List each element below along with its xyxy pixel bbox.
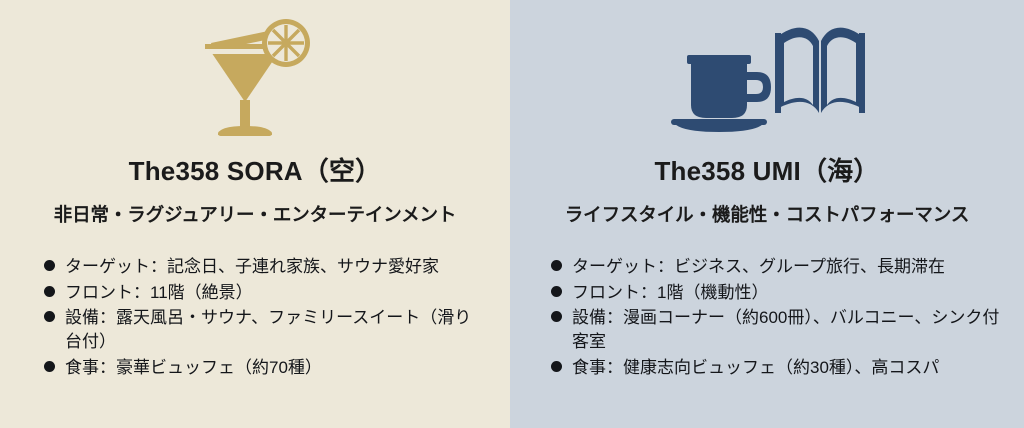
- list-item: ターゲット：ビジネス、グループ旅行、長期滞在: [551, 255, 1002, 279]
- bullet-dot-icon: [551, 260, 562, 271]
- list-item: 設備：露天風呂・サウナ、ファミリースイート（滑り台付）: [44, 306, 486, 355]
- panel-sora-subtitle: 非日常・ラグジュアリー・エンターテインメント: [0, 206, 510, 225]
- panel-umi-title: The358 UMI（海）: [510, 158, 1024, 184]
- panel-sora-title: The358 SORA（空）: [0, 158, 510, 184]
- panel-umi-subtitle: ライフスタイル・機能性・コストパフォーマンス: [510, 206, 1024, 225]
- list-item: フロント：11階（絶景）: [44, 281, 486, 305]
- panel-sora-feature-list: ターゲット：記念日、子連れ家族、サウナ愛好家 フロント：11階（絶景） 設備：露…: [0, 255, 510, 380]
- hotel-comparison-panels: The358 SORA（空） 非日常・ラグジュアリー・エンターテインメント ター…: [0, 0, 1024, 428]
- list-item-text: ターゲット：記念日、子連れ家族、サウナ愛好家: [65, 257, 439, 276]
- bullet-dot-icon: [44, 260, 55, 271]
- bullet-dot-icon: [551, 361, 562, 372]
- cocktail-glass-icon: [199, 16, 311, 138]
- list-item-text: 設備：露天風呂・サウナ、ファミリースイート（滑り台付）: [65, 308, 471, 351]
- list-item-text: フロント：11階（絶景）: [65, 283, 253, 302]
- panel-umi-feature-list: ターゲット：ビジネス、グループ旅行、長期滞在 フロント：1階（機動性） 設備：漫…: [510, 255, 1024, 380]
- list-item: 食事：豪華ビュッフェ（約70種）: [44, 356, 486, 380]
- list-item-text: 食事：豪華ビュッフェ（約70種）: [65, 358, 322, 377]
- panel-sora-icon-area: [0, 0, 510, 152]
- bullet-dot-icon: [44, 361, 55, 372]
- bullet-dot-icon: [44, 311, 55, 322]
- panel-umi: The358 UMI（海） ライフスタイル・機能性・コストパフォーマンス ターゲ…: [510, 0, 1024, 428]
- list-item-text: 設備：漫画コーナー（約600冊）、バルコニー、シンク付客室: [572, 308, 999, 351]
- list-item: フロント：1階（機動性）: [551, 281, 1002, 305]
- panel-sora: The358 SORA（空） 非日常・ラグジュアリー・エンターテインメント ター…: [0, 0, 510, 428]
- list-item-text: 食事：健康志向ビュッフェ（約30種）、高コスパ: [572, 358, 939, 377]
- list-item-text: フロント：1階（機動性）: [572, 283, 768, 302]
- list-item: 設備：漫画コーナー（約600冊）、バルコニー、シンク付客室: [551, 306, 1002, 355]
- bullet-dot-icon: [551, 286, 562, 297]
- panel-umi-icon-area: [510, 0, 1024, 152]
- bullet-dot-icon: [551, 311, 562, 322]
- bullet-dot-icon: [44, 286, 55, 297]
- coffee-cup-and-open-book-icon: [669, 17, 865, 137]
- list-item-text: ターゲット：ビジネス、グループ旅行、長期滞在: [572, 257, 945, 276]
- list-item: 食事：健康志向ビュッフェ（約30種）、高コスパ: [551, 356, 1002, 380]
- list-item: ターゲット：記念日、子連れ家族、サウナ愛好家: [44, 255, 486, 279]
